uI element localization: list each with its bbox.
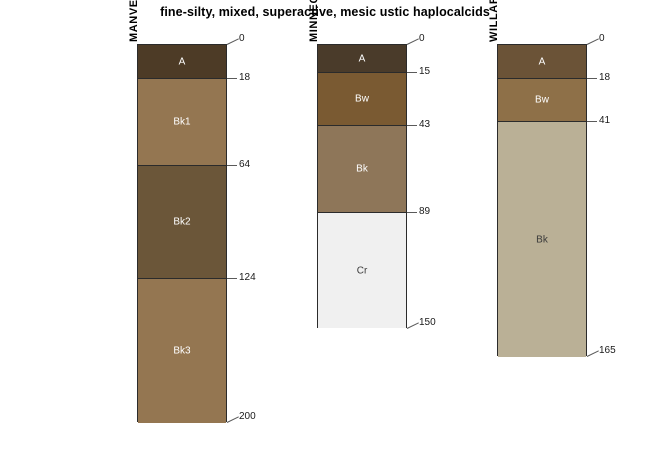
depth-tick	[407, 72, 417, 73]
depth-tick	[587, 78, 597, 79]
soil-horizon: Bk3	[138, 279, 226, 423]
depth-label: 15	[419, 66, 430, 77]
depth-label: 41	[599, 115, 610, 126]
depth-label: 0	[419, 33, 425, 44]
page-title: fine-silty, mixed, superactive, mesic us…	[0, 5, 650, 19]
depth-label: 43	[419, 119, 430, 130]
depth-tick-leader	[227, 416, 239, 423]
profile-name-label: MANVEL	[128, 0, 140, 42]
soil-horizon: A	[138, 45, 226, 79]
depth-tick-leader	[407, 322, 419, 329]
horizon-label: Bk3	[138, 346, 226, 357]
soil-horizon: Cr	[318, 213, 406, 328]
profile-name-label: WILLARD	[488, 0, 500, 42]
depth-tick	[227, 278, 237, 279]
depth-label: 150	[419, 317, 436, 328]
depth-label: 18	[599, 72, 610, 83]
depth-tick-leader	[227, 38, 239, 45]
soil-horizon: Bk	[318, 126, 406, 213]
depth-label: 165	[599, 345, 616, 356]
depth-label: 0	[239, 33, 245, 44]
profile-name-label: MINNEQUA	[308, 0, 320, 42]
soil-horizon: Bw	[498, 79, 586, 122]
depth-tick	[227, 78, 237, 79]
soil-horizon: Bk	[498, 122, 586, 356]
horizon-label: Bw	[318, 94, 406, 105]
profile-column: ABk1Bk2Bk3	[137, 44, 227, 422]
horizon-label: A	[138, 56, 226, 67]
depth-label: 64	[239, 159, 250, 170]
depth-tick-leader	[407, 38, 419, 45]
soil-horizon: Bk2	[138, 166, 226, 279]
horizon-label: Bw	[498, 95, 586, 106]
horizon-label: A	[318, 53, 406, 64]
horizon-label: Bk	[498, 234, 586, 245]
horizon-label: Cr	[318, 265, 406, 276]
horizon-label: Bk2	[138, 217, 226, 228]
soil-horizon: Bk1	[138, 79, 226, 166]
depth-label: 89	[419, 206, 430, 217]
depth-tick	[587, 121, 597, 122]
depth-label: 200	[239, 411, 256, 422]
depth-label: 18	[239, 72, 250, 83]
profile-column: ABwBkCr	[317, 44, 407, 328]
depth-label: 124	[239, 272, 256, 283]
horizon-label: Bk	[318, 164, 406, 175]
horizon-label: A	[498, 56, 586, 67]
soil-horizon: A	[318, 45, 406, 73]
depth-tick	[407, 212, 417, 213]
soil-horizon: Bw	[318, 73, 406, 126]
depth-tick	[407, 125, 417, 126]
depth-tick-leader	[587, 38, 599, 45]
profile-column: ABwBk	[497, 44, 587, 356]
soil-horizon: A	[498, 45, 586, 79]
depth-tick	[227, 165, 237, 166]
depth-label: 0	[599, 33, 605, 44]
depth-tick-leader	[587, 350, 599, 357]
horizon-label: Bk1	[138, 116, 226, 127]
